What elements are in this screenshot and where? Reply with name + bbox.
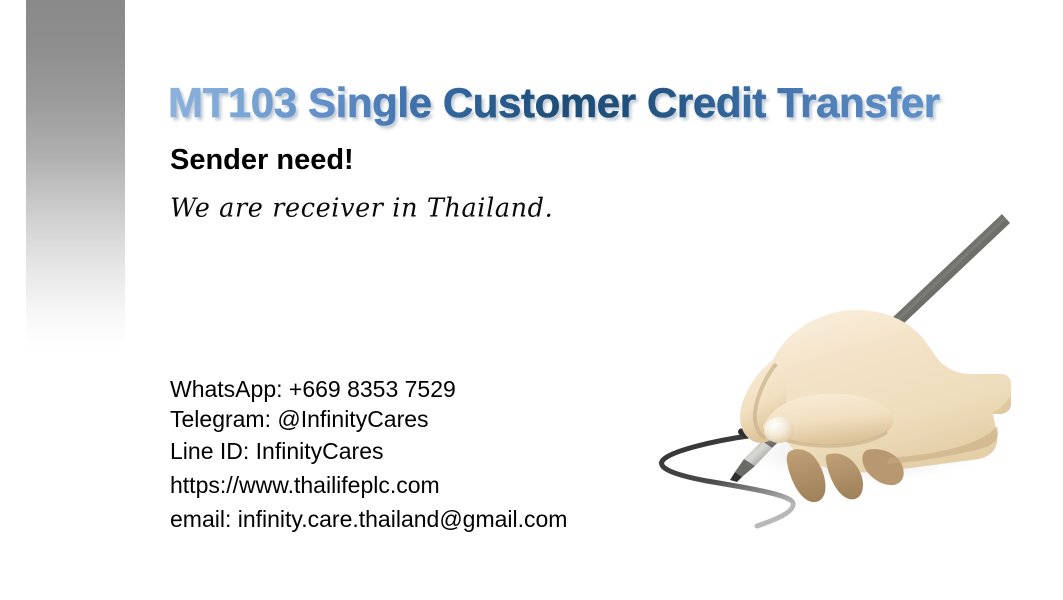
contact-block: WhatsApp: +669 8353 7529 Telegram: @Infi… xyxy=(170,374,567,536)
hand-writing-illustration xyxy=(645,198,1045,533)
page-title: MT103 Single Customer Credit Transfer MT… xyxy=(168,77,1008,133)
page-title-text: MT103 Single Customer Credit Transfer xyxy=(168,77,1008,129)
contact-whatsapp: WhatsApp: +669 8353 7529 xyxy=(170,374,567,404)
subheading-receiver: We are receiver in Thailand. xyxy=(170,192,553,223)
heading-sender-need: Sender need! xyxy=(170,144,354,177)
contact-email[interactable]: email: infinity.care.thailand@gmail.com xyxy=(170,502,567,536)
contact-telegram: Telegram: @InfinityCares xyxy=(170,404,567,434)
left-gradient-band xyxy=(26,0,125,348)
contact-line-id: Line ID: InfinityCares xyxy=(170,434,567,468)
knuckle-highlight xyxy=(764,417,794,443)
contact-website[interactable]: https://www.thailifeplc.com xyxy=(170,468,567,502)
slide-canvas: MT103 Single Customer Credit Transfer MT… xyxy=(0,0,1063,600)
